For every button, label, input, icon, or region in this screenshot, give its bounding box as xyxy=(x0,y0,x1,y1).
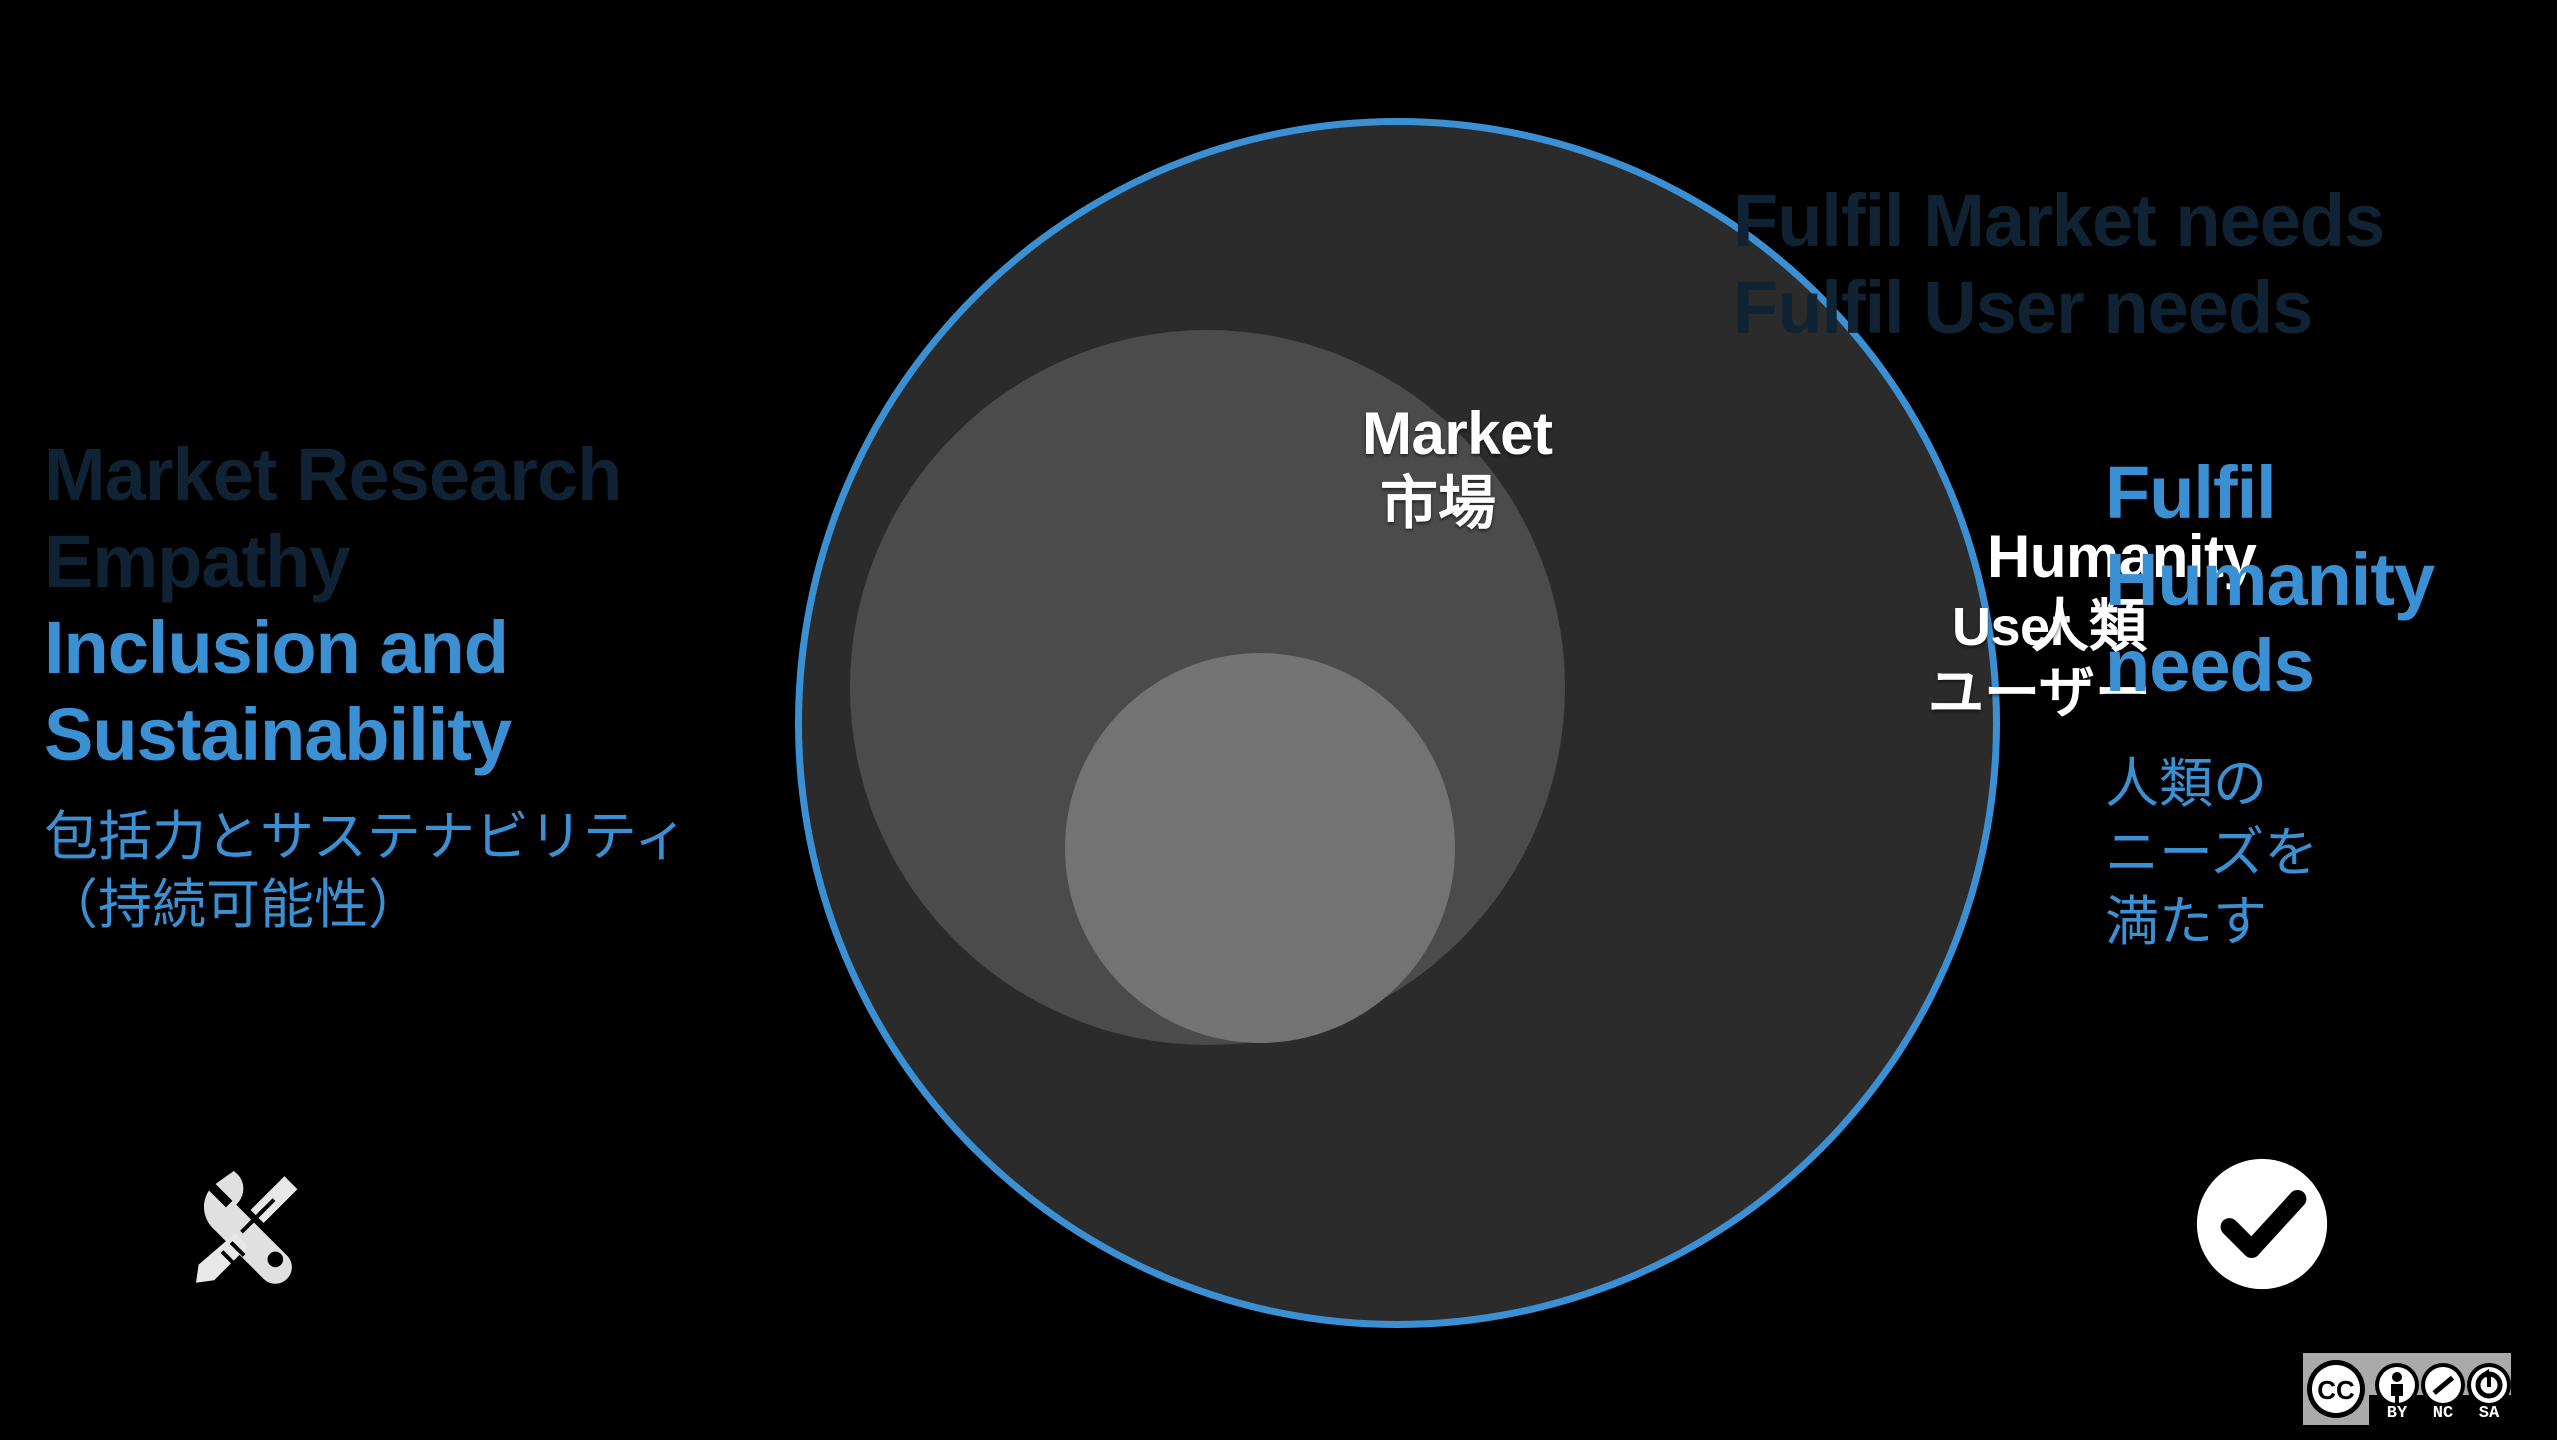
cc-by-nc-sa-badge[interactable]: CC BY NC SA xyxy=(2303,1353,2511,1425)
left-line-inclusion-and: Inclusion and xyxy=(44,605,774,692)
market-label-en: Market xyxy=(1362,399,1552,470)
market-label-ja: 市場 xyxy=(1380,470,1552,538)
right-subtitle-line-2: ニーズを xyxy=(2105,819,2555,888)
right-top-annotation: Fulfil Market needs Fulfil User needs xyxy=(1733,178,2553,351)
left-annotation-column: Market Research Empathy Inclusion and Su… xyxy=(44,432,774,939)
right-subtitle-line-3: 満たす xyxy=(2105,888,2555,957)
left-line-market-research: Market Research xyxy=(44,432,774,519)
right-subtitle-line-1: 人類の xyxy=(2105,750,2555,819)
cc-roundel-text: CC xyxy=(2317,1375,2355,1405)
market-circle-label: Market 市場 xyxy=(1362,399,1552,538)
user-circle xyxy=(1065,653,1455,1043)
left-subtitle-japanese: 包括力とサステナビリティ（持続可能性） xyxy=(44,804,744,939)
right-line-fulfil: Fulfil xyxy=(2105,450,2555,537)
left-line-empathy: Empathy xyxy=(44,519,774,606)
right-subtitle-japanese: 人類の ニーズを 満たす xyxy=(2105,750,2555,957)
check-circle-icon xyxy=(2188,1150,2336,1298)
right-line-fulfil-market-needs: Fulfil Market needs xyxy=(1733,178,2553,265)
right-line-humanity: Humanity xyxy=(2105,537,2555,624)
left-line-sustainability: Sustainability xyxy=(44,692,774,779)
cc-term-by: BY xyxy=(2387,1404,2408,1423)
cc-term-nc: NC xyxy=(2433,1404,2453,1423)
right-line-needs: needs xyxy=(2105,623,2555,710)
cc-term-sa: SA xyxy=(2479,1404,2500,1423)
slide-canvas: Market 市場 User ユーザー Humanity 人類 Market R… xyxy=(0,0,2557,1440)
tools-icon xyxy=(178,1158,318,1288)
right-line-fulfil-user-needs: Fulfil User needs xyxy=(1733,265,2553,352)
right-annotation-column: Fulfil Humanity needs 人類の ニーズを 満たす xyxy=(2105,450,2555,957)
